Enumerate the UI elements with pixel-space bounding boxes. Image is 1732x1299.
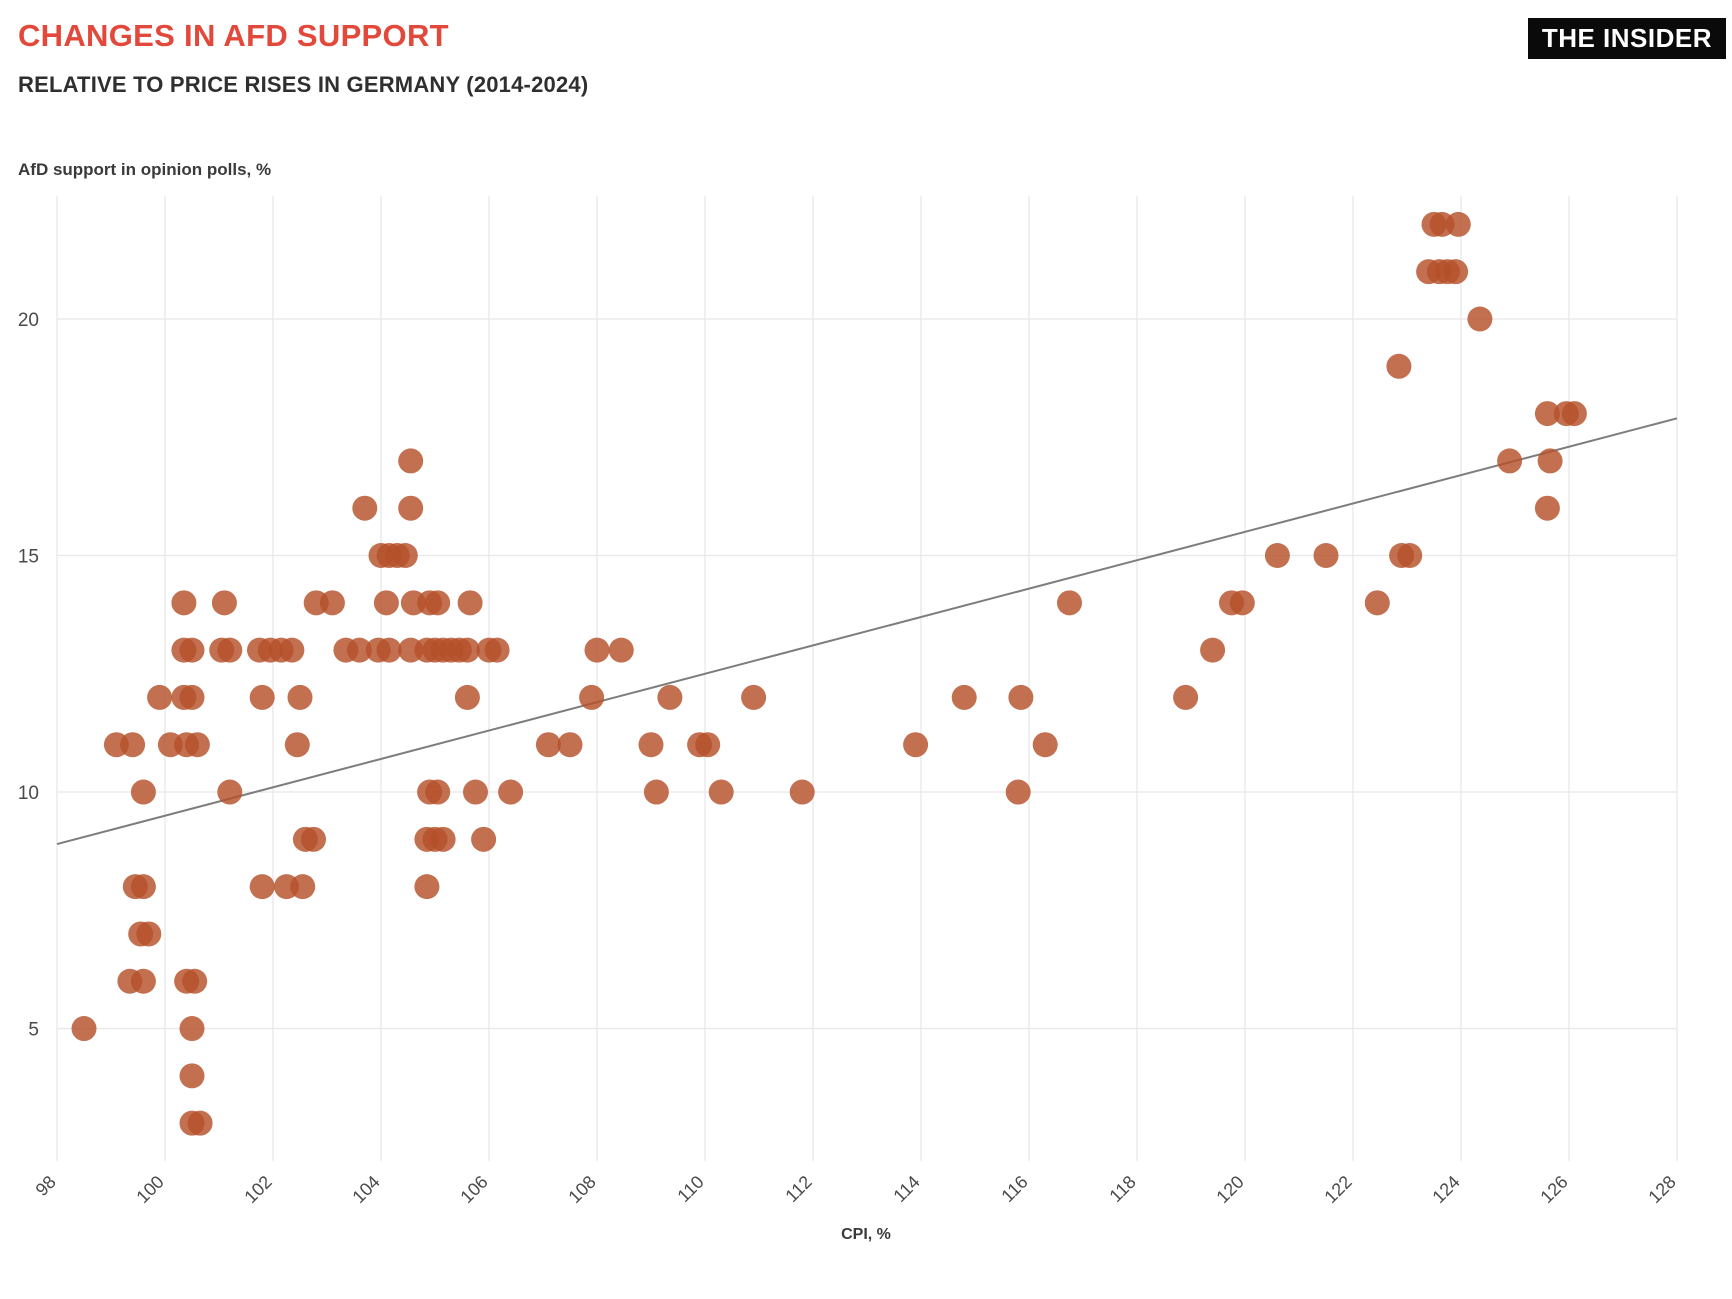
data-point — [1230, 590, 1255, 615]
data-point — [644, 780, 669, 805]
data-point — [579, 685, 604, 710]
data-point — [498, 780, 523, 805]
x-tick-label: 126 — [1536, 1172, 1571, 1207]
data-point — [455, 685, 480, 710]
data-point — [536, 732, 561, 757]
y-tick-label: 15 — [18, 547, 39, 568]
data-point — [1008, 685, 1033, 710]
x-axis-label: CPI, % — [0, 1226, 1732, 1244]
data-point — [425, 590, 450, 615]
data-point — [217, 780, 242, 805]
data-point — [320, 590, 345, 615]
data-point — [471, 827, 496, 852]
data-point — [290, 874, 315, 899]
data-point — [1314, 543, 1339, 568]
data-point — [455, 638, 480, 663]
data-point — [393, 543, 418, 568]
data-point — [709, 780, 734, 805]
x-tick-label: 102 — [240, 1172, 275, 1207]
x-tick-label: 108 — [564, 1172, 599, 1207]
data-point — [131, 780, 156, 805]
data-point — [301, 827, 326, 852]
x-tick-label: 118 — [1105, 1172, 1139, 1206]
data-point — [1200, 638, 1225, 663]
data-point — [463, 780, 488, 805]
data-point — [279, 638, 304, 663]
y-tick-label: 10 — [18, 783, 39, 804]
data-point — [398, 496, 423, 521]
x-tick-label: 112 — [781, 1172, 815, 1206]
data-point — [1006, 780, 1031, 805]
data-point — [288, 685, 313, 710]
data-point — [1497, 448, 1522, 473]
data-point — [558, 732, 583, 757]
data-points — [72, 212, 1587, 1136]
data-point — [377, 638, 402, 663]
data-point — [609, 638, 634, 663]
x-tick-label: 100 — [132, 1172, 167, 1207]
data-point — [585, 638, 610, 663]
scatter-plot: 5101520 98100102104106108110112114116118… — [0, 0, 1732, 1299]
data-point — [180, 1063, 205, 1088]
data-point — [285, 732, 310, 757]
data-point — [180, 638, 205, 663]
data-point — [1446, 212, 1471, 237]
data-point — [188, 1111, 213, 1136]
trendline — [57, 418, 1677, 844]
data-point — [657, 685, 682, 710]
data-point — [485, 638, 510, 663]
data-point — [120, 732, 145, 757]
data-point — [131, 969, 156, 994]
x-tick-label: 116 — [997, 1172, 1031, 1206]
data-point — [458, 590, 483, 615]
data-point — [431, 827, 456, 852]
data-point — [185, 732, 210, 757]
x-tick-label: 128 — [1644, 1172, 1679, 1207]
x-tick-label: 106 — [456, 1172, 491, 1207]
x-axis-ticks: 9810010210410610811011211411611812012212… — [32, 1172, 1680, 1207]
x-tick-label: 120 — [1212, 1172, 1247, 1207]
data-point — [182, 969, 207, 994]
data-point — [903, 732, 928, 757]
data-point — [352, 496, 377, 521]
data-point — [1057, 590, 1082, 615]
data-point — [1265, 543, 1290, 568]
data-point — [639, 732, 664, 757]
data-point — [136, 921, 161, 946]
gridlines — [57, 196, 1677, 1161]
data-point — [1386, 354, 1411, 379]
data-point — [1397, 543, 1422, 568]
data-point — [171, 590, 196, 615]
data-point — [398, 448, 423, 473]
y-tick-label: 20 — [18, 310, 39, 331]
data-point — [250, 874, 275, 899]
y-axis-ticks: 5101520 — [18, 310, 39, 1041]
x-tick-label: 104 — [348, 1172, 383, 1207]
data-point — [952, 685, 977, 710]
x-tick-label: 122 — [1320, 1172, 1355, 1207]
data-point — [72, 1016, 97, 1041]
data-point — [1033, 732, 1058, 757]
data-point — [180, 685, 205, 710]
data-point — [1173, 685, 1198, 710]
data-point — [374, 590, 399, 615]
data-point — [147, 685, 172, 710]
data-point — [1538, 448, 1563, 473]
data-point — [1365, 590, 1390, 615]
x-tick-label: 110 — [673, 1172, 707, 1206]
data-point — [217, 638, 242, 663]
data-point — [741, 685, 766, 710]
data-point — [1443, 259, 1468, 284]
data-point — [131, 874, 156, 899]
x-tick-label: 98 — [32, 1172, 60, 1200]
data-point — [790, 780, 815, 805]
data-point — [212, 590, 237, 615]
data-point — [425, 780, 450, 805]
data-point — [1562, 401, 1587, 426]
data-point — [1535, 496, 1560, 521]
data-point — [414, 874, 439, 899]
x-tick-label: 124 — [1428, 1172, 1463, 1207]
y-tick-label: 5 — [28, 1020, 39, 1041]
data-point — [695, 732, 720, 757]
data-point — [180, 1016, 205, 1041]
x-tick-label: 114 — [889, 1172, 923, 1206]
data-point — [250, 685, 275, 710]
data-point — [1467, 306, 1492, 331]
